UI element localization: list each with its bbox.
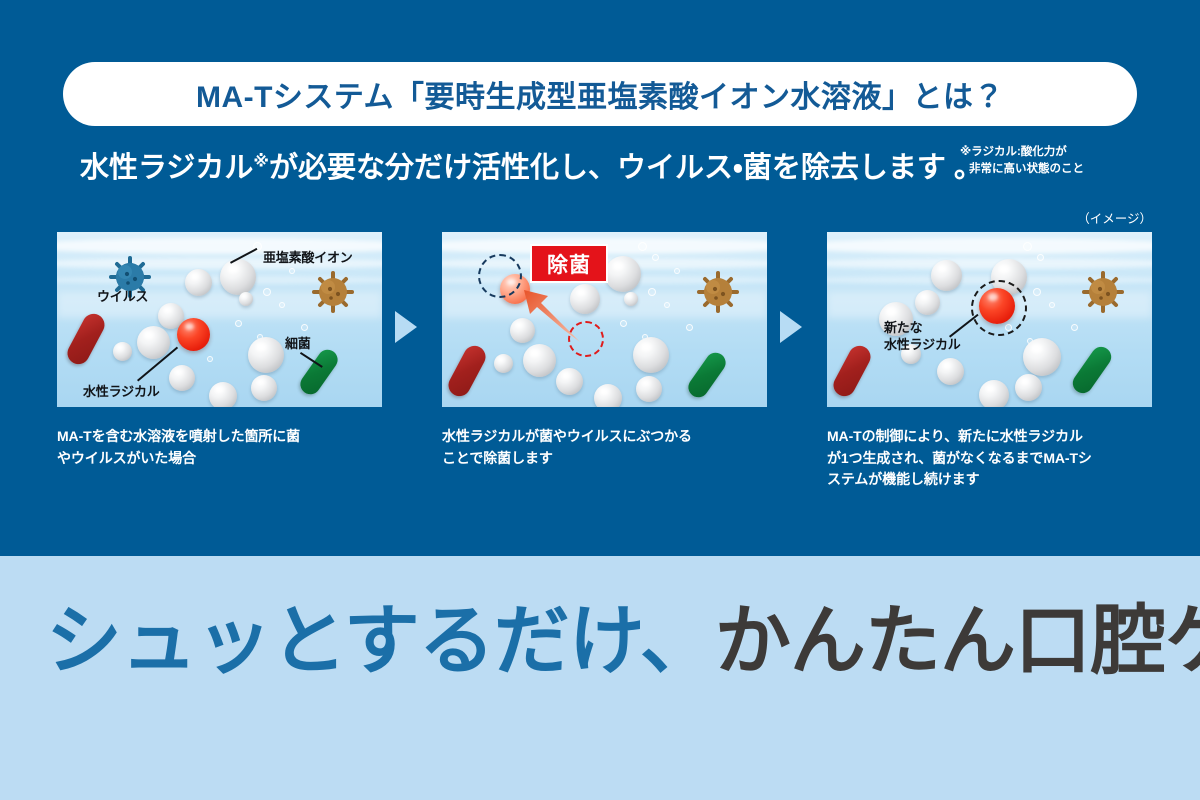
triangle-right-icon (780, 311, 802, 343)
caption-line: やウイルスがいた場合 (57, 448, 392, 470)
panel-1-caption: MA-Tを含む水溶液を噴射した箇所に菌 やウイルスがいた場合 (57, 426, 392, 469)
page-title: MA-Tシステム「要時生成型亜塩素酸イオン水溶液」とは？ (196, 72, 1004, 116)
virus-icon-brown (695, 269, 741, 315)
image-disclaimer-note: （イメージ） (1077, 208, 1152, 227)
virus-icon-brown (310, 269, 356, 315)
caption-line: ステムが機能し続けます (827, 469, 1162, 491)
label-new-radical-line2: 水性ラジカル (884, 337, 961, 353)
label-aqueous-radical: 水性ラジカル (83, 384, 160, 400)
caption-line: MA-Tの制御により、新たに水性ラジカル (827, 426, 1162, 448)
ion-sphere (931, 260, 962, 291)
subtitle-text: 水性ラジカル※が必要な分だけ活性化し、ウイルス・菌を除去します 。 (80, 144, 983, 186)
sterilization-badge-label: 除菌 (547, 249, 591, 279)
title-pill: MA-Tシステム「要時生成型亜塩素酸イオン水溶液」とは？ (63, 62, 1137, 126)
ion-sphere (556, 368, 583, 395)
ion-sphere (209, 382, 237, 407)
panel-3-caption: MA-Tの制御により、新たに水性ラジカル が1つ生成され、菌がなくなるまでMA-… (827, 426, 1162, 491)
ion-sphere (113, 342, 132, 361)
panel-2-caption: 水性ラジカルが菌やウイルスにぶつかる ことで除菌します (442, 426, 777, 469)
ion-sphere (239, 292, 253, 306)
diagram-panel-3: 新たな 水性ラジカル (827, 232, 1152, 407)
label-new-radical-line1: 新たな (884, 320, 922, 336)
caption-line: MA-Tを含む水溶液を噴射した箇所に菌 (57, 426, 392, 448)
diagram-panel-2: 除菌 (442, 232, 767, 407)
caption-line: ことで除菌します (442, 448, 777, 470)
virus-icon-brown (1080, 269, 1126, 315)
ion-sphere (915, 290, 940, 315)
ion-sphere (169, 365, 195, 391)
ion-sphere (594, 384, 622, 407)
ion-sphere (624, 292, 638, 306)
ion-sphere (979, 380, 1009, 407)
subtitle-footnote: ※ラジカル:酸化力が 非常に高い状態のこと (960, 144, 1160, 177)
ion-sphere (251, 375, 277, 401)
reaction-arrow-icon (514, 280, 592, 363)
ion-sphere (494, 354, 513, 373)
new-radical-highlight-ring (971, 280, 1027, 336)
ion-sphere (185, 269, 212, 296)
subtitle-part-after: が必要な分だけ活性化し、ウイルス・菌を除去します 。 (269, 152, 983, 184)
ion-sphere (1023, 338, 1061, 376)
footnote-line-2: 非常に高い状態のこと (960, 161, 1160, 178)
ion-sphere (1015, 374, 1042, 401)
ion-sphere (220, 259, 256, 295)
bottom-headline: シュッとするだけ、かんたん口腔ケア。 (46, 596, 1166, 688)
headline-blue-part: シュッとするだけ、 (46, 599, 715, 684)
caption-line: が1つ生成され、菌がなくなるまでMA-Tシ (827, 448, 1162, 470)
label-bacteria: 細菌 (285, 336, 311, 352)
ion-sphere (248, 337, 284, 373)
ion-sphere (605, 256, 641, 292)
ion-sphere (137, 326, 170, 359)
label-virus: ウイルス (97, 289, 148, 305)
ion-sphere (633, 337, 669, 373)
ion-sphere (636, 376, 662, 402)
triangle-right-icon (395, 311, 417, 343)
subtitle-row: 水性ラジカル※が必要な分だけ活性化し、ウイルス・菌を除去します 。 ※ラジカル:… (0, 140, 1200, 196)
footnote-line-1: ※ラジカル:酸化力が (960, 146, 1067, 158)
label-chlorous-acid-ion: 亜塩素酸イオン (263, 250, 353, 266)
subtitle-part-before: 水性ラジカル (80, 152, 253, 184)
aqueous-radical-sphere (177, 318, 210, 351)
sterilization-badge: 除菌 (530, 244, 608, 283)
headline-dark-part: かんたん口腔ケア。 (715, 599, 1200, 684)
caption-line: 水性ラジカルが菌やウイルスにぶつかる (442, 426, 777, 448)
diagram-panel-1: 亜塩素酸イオン ウイルス 細菌 水性ラジカル (57, 232, 382, 407)
ion-sphere (937, 358, 964, 385)
infographic-root: MA-Tシステム「要時生成型亜塩素酸イオン水溶液」とは？ 水性ラジカル※が必要な… (0, 0, 1200, 800)
subtitle-reference-mark: ※ (253, 153, 269, 170)
